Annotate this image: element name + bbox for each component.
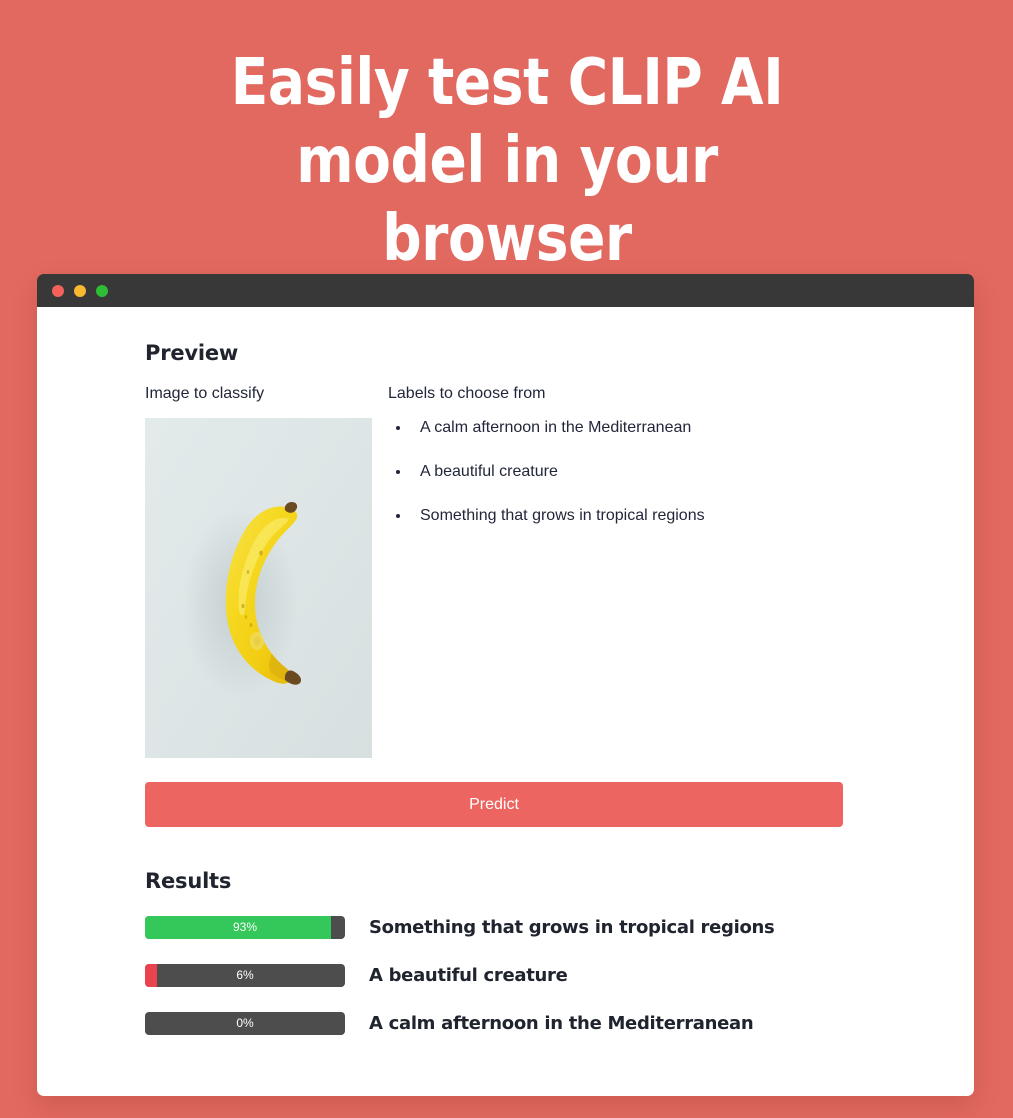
result-label: A beautiful creature xyxy=(345,965,568,986)
table-row: 0% A calm afternoon in the Mediterranean xyxy=(145,1012,866,1035)
result-progress-bar: 93% xyxy=(145,916,345,939)
preview-grid: Image to classify xyxy=(145,384,866,758)
window-titlebar xyxy=(37,274,974,307)
labels-list: A calm afternoon in the Mediterranean A … xyxy=(388,418,866,526)
content-container: Preview Image to classify xyxy=(37,341,974,1035)
browser-window: Preview Image to classify xyxy=(37,274,974,1096)
table-row: 6% A beautiful creature xyxy=(145,964,866,987)
result-percent: 93% xyxy=(145,916,345,939)
list-item: A calm afternoon in the Mediterranean xyxy=(388,418,866,438)
image-column: Image to classify xyxy=(145,384,388,758)
image-caption: Image to classify xyxy=(145,384,388,404)
preview-heading: Preview xyxy=(145,341,866,365)
list-item: Something that grows in tropical regions xyxy=(388,506,866,526)
close-window-icon[interactable] xyxy=(52,285,64,297)
hero-section: Easily test CLIP AI model in your browse… xyxy=(0,0,1013,278)
classify-image xyxy=(145,418,372,758)
list-item: A beautiful creature xyxy=(388,462,866,482)
predict-button[interactable]: Predict xyxy=(145,782,843,827)
table-row: 93% Something that grows in tropical reg… xyxy=(145,916,866,939)
maximize-window-icon[interactable] xyxy=(96,285,108,297)
labels-caption: Labels to choose from xyxy=(388,384,866,404)
result-progress-bar: 6% xyxy=(145,964,345,987)
results-heading: Results xyxy=(145,869,866,893)
window-content: Preview Image to classify xyxy=(37,307,974,1096)
result-label: A calm afternoon in the Mediterranean xyxy=(345,1013,753,1034)
result-percent: 6% xyxy=(145,964,345,987)
result-progress-bar: 0% xyxy=(145,1012,345,1035)
page-title: Easily test CLIP AI model in your browse… xyxy=(180,44,834,278)
minimize-window-icon[interactable] xyxy=(74,285,86,297)
result-percent: 0% xyxy=(145,1012,345,1035)
labels-column: Labels to choose from A calm afternoon i… xyxy=(388,384,866,758)
result-label: Something that grows in tropical regions xyxy=(345,917,774,938)
results-list: 93% Something that grows in tropical reg… xyxy=(145,916,866,1035)
